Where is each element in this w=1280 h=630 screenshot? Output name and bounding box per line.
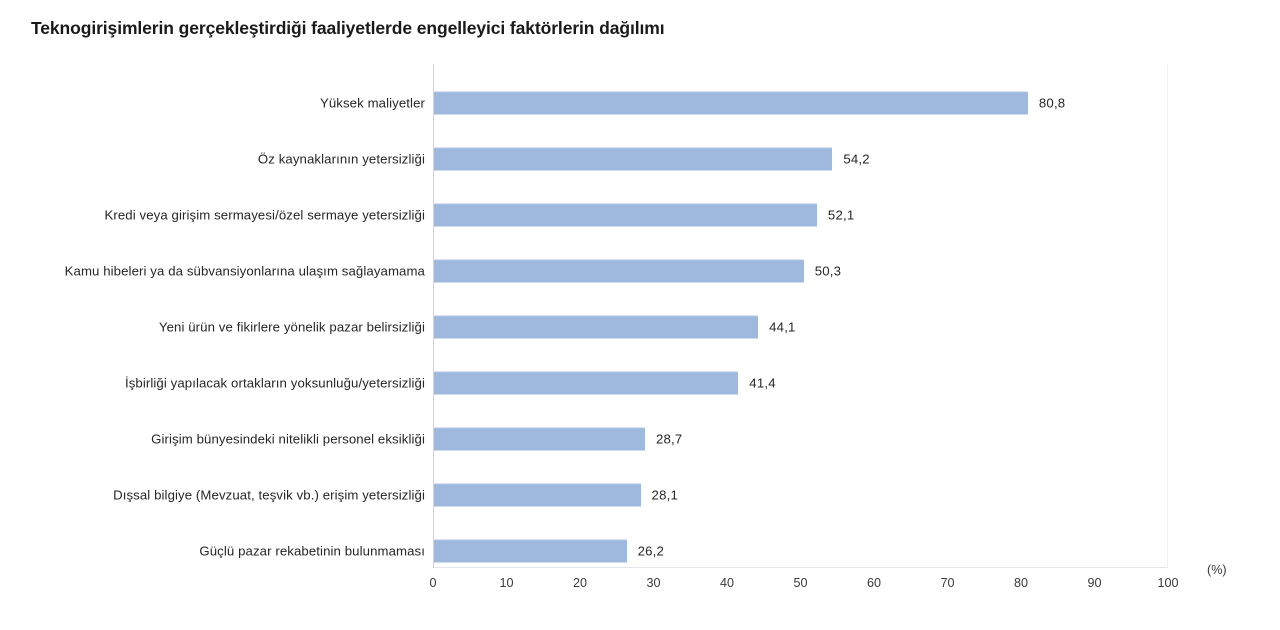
x-axis: 0102030405060708090100 (433, 568, 1168, 608)
axis-unit-label: (%) (1207, 563, 1227, 577)
category-label: Yüksek maliyetler (320, 96, 425, 111)
bar-track (434, 428, 645, 451)
bar-row: Öz kaynaklarının yetersizliği54,2 (433, 131, 1168, 187)
bar-value-label: 41,4 (749, 376, 775, 391)
bar[interactable] (434, 484, 641, 507)
category-label: Kamu hibeleri ya da sübvansiyonlarına ul… (65, 264, 425, 279)
bar-track (434, 540, 627, 563)
bar-value-label: 28,1 (652, 488, 678, 503)
bar-value-label: 52,1 (828, 208, 854, 223)
plot-area: Yüksek maliyetler80,8Öz kaynaklarının ye… (433, 64, 1168, 568)
bar-row: Yüksek maliyetler80,8 (433, 75, 1168, 131)
x-tick-label: 20 (573, 576, 587, 590)
bar-row: Dışsal bilgiye (Mevzuat, teşvik vb.) eri… (433, 467, 1168, 523)
bar[interactable] (434, 540, 627, 563)
bar-row: Kredi veya girişim sermayesi/özel sermay… (433, 187, 1168, 243)
category-label: İşbirliği yapılacak ortakların yoksunluğ… (125, 376, 425, 391)
bar[interactable] (434, 204, 817, 227)
bar[interactable] (434, 92, 1028, 115)
bar-track (434, 372, 738, 395)
bar-value-label: 54,2 (843, 152, 869, 167)
x-tick-label: 30 (646, 576, 660, 590)
bar[interactable] (434, 260, 804, 283)
x-tick-label: 10 (499, 576, 513, 590)
category-label: Dışsal bilgiye (Mevzuat, teşvik vb.) eri… (113, 488, 425, 503)
bar-track (434, 148, 832, 171)
bar-value-label: 28,7 (656, 432, 682, 447)
bar[interactable] (434, 316, 758, 339)
bar[interactable] (434, 148, 832, 171)
bar-row: İşbirliği yapılacak ortakların yoksunluğ… (433, 355, 1168, 411)
bar-value-label: 80,8 (1039, 96, 1065, 111)
x-tick-label: 80 (1014, 576, 1028, 590)
x-tick-label: 60 (867, 576, 881, 590)
x-tick-label: 90 (1087, 576, 1101, 590)
category-label: Yeni ürün ve fikirlere yönelik pazar bel… (159, 320, 425, 335)
bar[interactable] (434, 372, 738, 395)
category-label: Kredi veya girişim sermayesi/özel sermay… (104, 208, 425, 223)
x-tick-label: 40 (720, 576, 734, 590)
bar-value-label: 26,2 (638, 544, 664, 559)
bar-chart: Teknogirişimlerin gerçekleştirdiği faali… (0, 0, 1280, 630)
category-label: Güçlü pazar rekabetinin bulunmaması (199, 544, 425, 559)
bar-value-label: 50,3 (815, 264, 841, 279)
bar-row: Yeni ürün ve fikirlere yönelik pazar bel… (433, 299, 1168, 355)
bar-track (434, 316, 758, 339)
category-label: Girişim bünyesindeki nitelikli personel … (151, 432, 425, 447)
x-tick-label: 50 (793, 576, 807, 590)
x-tick-label: 100 (1157, 576, 1178, 590)
bar-track (434, 484, 641, 507)
x-tick-label: 70 (940, 576, 954, 590)
bar-row: Girişim bünyesindeki nitelikli personel … (433, 411, 1168, 467)
bar[interactable] (434, 428, 645, 451)
bar-track (434, 92, 1028, 115)
category-label: Öz kaynaklarının yetersizliği (258, 152, 425, 167)
bar-track (434, 204, 817, 227)
x-tick-label: 0 (429, 576, 436, 590)
page-title: Teknogirişimlerin gerçekleştirdiği faali… (31, 18, 664, 39)
bar-value-label: 44,1 (769, 320, 795, 335)
bar-track (434, 260, 804, 283)
bar-row: Kamu hibeleri ya da sübvansiyonlarına ul… (433, 243, 1168, 299)
